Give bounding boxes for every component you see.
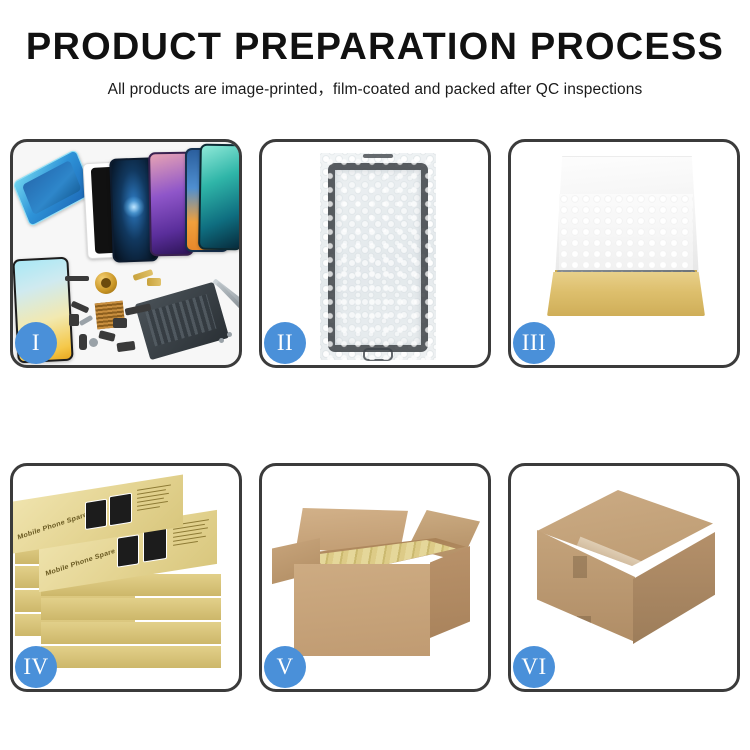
spare-part-module [113,318,127,328]
spare-part-screw-3 [227,332,232,337]
copper-coil-part [95,272,117,294]
home-button-outline [363,348,393,361]
header: PRODUCT PREPARATION PROCESS All products… [0,0,750,99]
spare-part-connector-2 [69,314,79,326]
step-panel-4: Mobile Phone Spare Parts Mobile Phone Sp… [10,463,242,692]
spare-part-camera [116,341,135,352]
spare-part-button [79,334,87,350]
step-badge-2: II [264,322,306,364]
step-badge-3: III [513,322,555,364]
step-panel-1: I [10,139,242,368]
box-phone-thumb-2 [109,493,132,527]
stacked-box-r3 [41,622,221,644]
carton-seam-2 [577,616,591,636]
spare-part-flex-2 [147,278,161,286]
box-phone-thumb-3 [117,534,139,567]
logic-board-part [135,282,230,360]
carton-seam-1 [573,556,587,578]
page-subtitle: All products are image-printed，film-coat… [0,77,750,99]
step-badge-6: VI [513,646,555,688]
process-steps-grid: I II [10,139,740,692]
carton-front-face [294,564,430,656]
step-badge-5: V [264,646,306,688]
screen-protector-film [13,149,94,228]
phone-display-teal [198,144,239,251]
page-title: PRODUCT PREPARATION PROCESS [0,28,750,68]
spare-part-bracket [79,315,94,326]
yellow-box-tray [547,272,705,316]
step-panel-3: III [508,139,740,368]
step-badge-4: IV [15,646,57,688]
step-panel-5: V [259,463,491,692]
product-preparation-infographic: PRODUCT PREPARATION PROCESS All products… [0,0,750,750]
step-panel-6: VI [508,463,740,692]
spare-part-screw-1 [89,338,98,347]
stacked-box-r4 [41,646,221,668]
bubble-wrap-sheet [320,153,436,360]
box-phone-thumb-1 [85,499,107,530]
carton-side-face [430,546,470,638]
stacked-box-r2 [41,598,221,620]
spare-part-speaker [98,330,115,342]
wrapped-phone-screen [328,163,428,352]
spare-part-connector-1 [71,301,90,314]
step-badge-1: I [15,322,57,364]
spare-part-strip [65,276,89,281]
foam-padding [559,194,693,278]
step-panel-2: II [259,139,491,368]
earpiece-slot [363,154,393,158]
spare-part-screw-2 [219,338,224,343]
